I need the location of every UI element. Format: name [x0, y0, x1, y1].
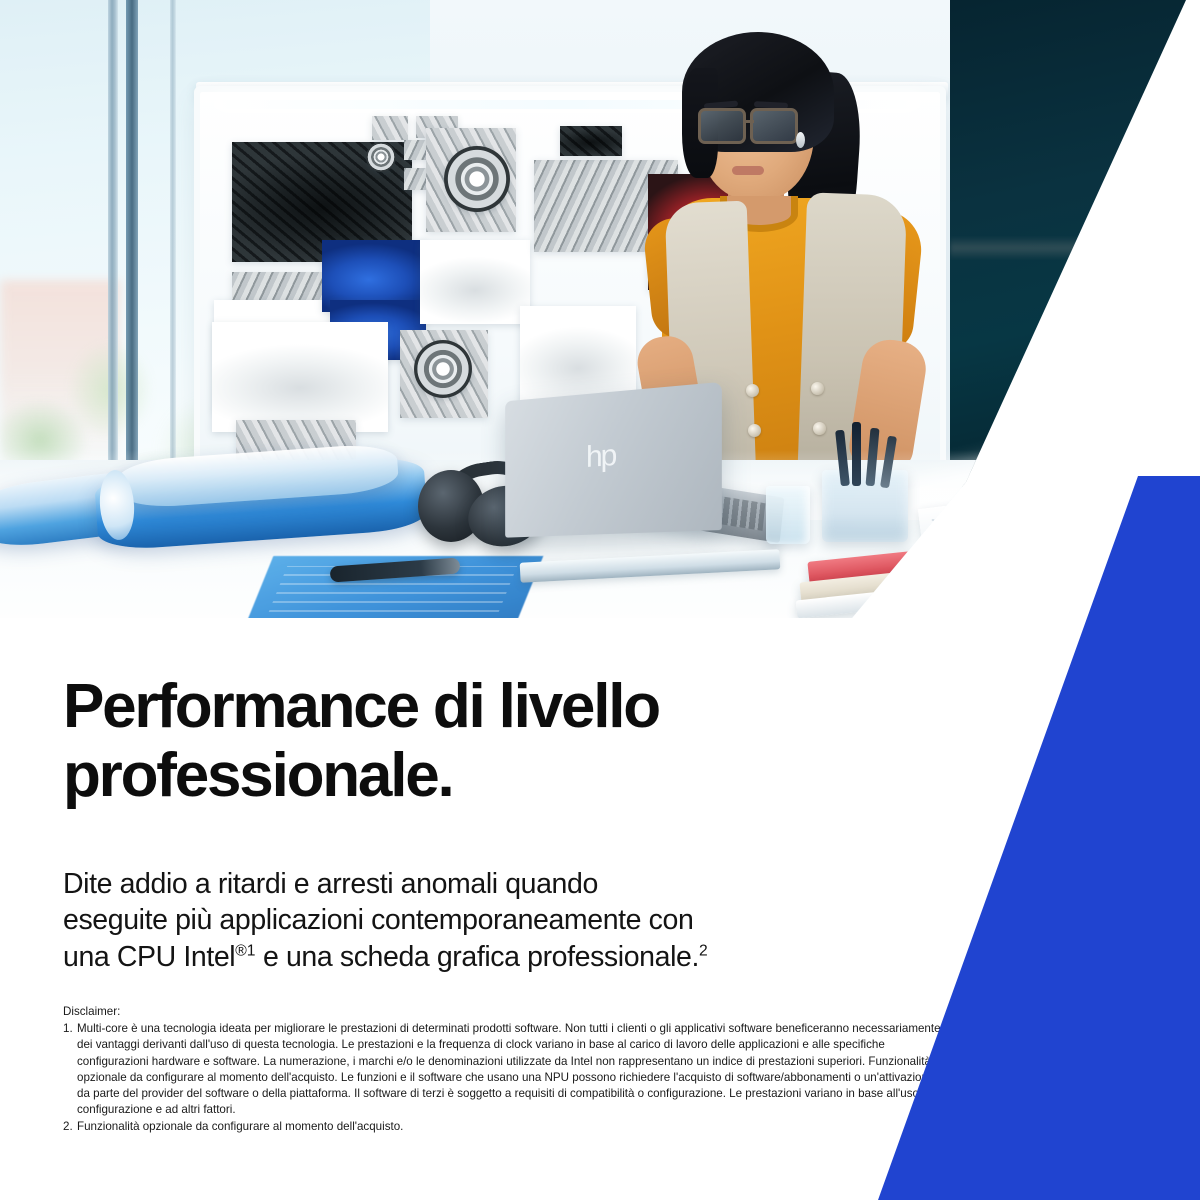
subtitle-line-3-pre: una CPU Intel [63, 941, 235, 973]
lips [732, 166, 764, 175]
page-title: Performance di livello professionale. [63, 672, 823, 811]
hp-logo-icon: hp [586, 439, 615, 475]
eyeglasses [698, 108, 746, 144]
eyeglasses [750, 108, 798, 144]
footnote-marker-1: ®1 [235, 942, 255, 959]
vest-button [813, 422, 826, 435]
pen [852, 422, 861, 486]
earring [796, 132, 805, 148]
vest-button [746, 384, 759, 397]
subtitle: Dite addio a ritardi e arresti anomali q… [63, 866, 823, 975]
sketch-card [212, 322, 388, 432]
monitor-reflection [950, 236, 1200, 260]
eyeglasses-bridge [744, 120, 754, 123]
vest-button [748, 424, 761, 437]
sketch-card [372, 116, 408, 140]
headline-line-2: professionale. [63, 741, 453, 810]
subtitle-line-2: eseguite più applicazioni contemporaneam… [63, 904, 693, 936]
wheel-sketch [366, 142, 396, 172]
disclaimer-item: Funzionalità opzionale da configurare al… [63, 1119, 948, 1135]
disclaimer-title: Disclaimer: [63, 1004, 948, 1020]
footnote-marker-2: 2 [699, 942, 708, 959]
sketch-card [420, 240, 530, 324]
headline-line-1: Performance di livello [63, 672, 659, 741]
glass-tumbler [766, 486, 810, 544]
hero-photo: hp [0, 0, 1200, 640]
vest-button [811, 382, 824, 395]
sketch-card [560, 126, 622, 156]
subtitle-line-1: Dite addio a ritardi e arresti anomali q… [63, 868, 598, 900]
wheel-sketch [414, 340, 472, 398]
disclaimer-item: Multi-core è una tecnologia ideata per m… [63, 1021, 948, 1118]
wheel-sketch [444, 146, 510, 212]
disclaimer-block: Disclaimer: Multi-core è una tecnologia … [63, 1004, 948, 1135]
paper-lines [932, 505, 1043, 530]
ad-page: hp Performance di livello professionale.… [0, 0, 1200, 1200]
subtitle-line-3-mid: e una scheda grafica professionale. [255, 941, 698, 973]
disclaimer-list: Multi-core è una tecnologia ideata per m… [63, 1021, 948, 1135]
